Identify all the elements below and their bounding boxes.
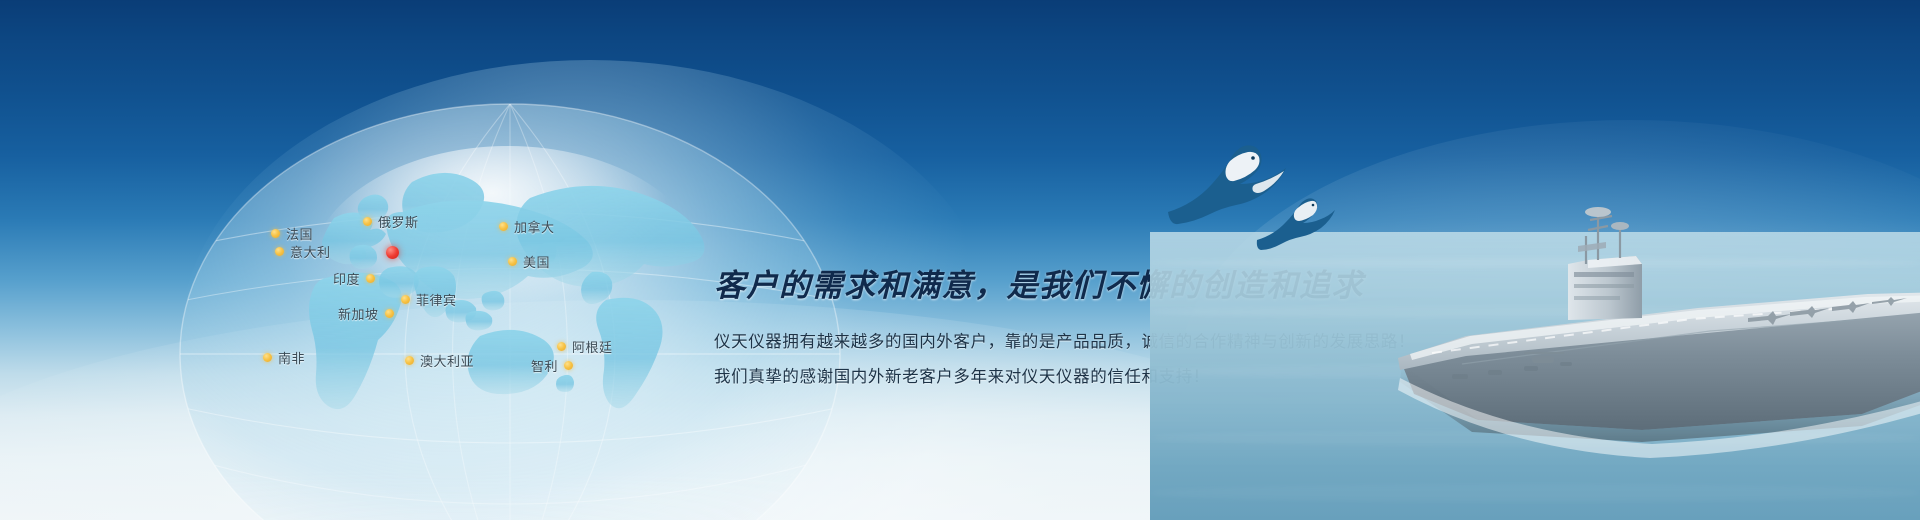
map-marker-label: 俄罗斯	[378, 212, 419, 231]
map-marker-新加坡: 新加坡	[338, 304, 394, 323]
map-marker-label: 加拿大	[514, 217, 555, 236]
map-pin-icon	[385, 309, 394, 318]
seagull-small-icon	[1252, 194, 1338, 252]
map-marker-label: 印度	[333, 269, 360, 288]
map-marker-label: 菲律宾	[416, 290, 457, 309]
map-marker-label: 新加坡	[338, 304, 379, 323]
map-marker-印度: 印度	[333, 269, 375, 288]
map-marker-智利: 智利	[531, 356, 573, 375]
map-marker-label: 智利	[531, 356, 558, 375]
map-pin-icon	[499, 222, 508, 231]
map-marker-label: 意大利	[290, 242, 331, 261]
map-marker-俄罗斯: 俄罗斯	[363, 212, 419, 231]
map-pin-icon	[564, 361, 573, 370]
map-marker-法国: 法国	[271, 224, 313, 243]
map-marker-label: 澳大利亚	[420, 351, 474, 370]
map-marker-意大利: 意大利	[275, 242, 331, 261]
map-marker-加拿大: 加拿大	[499, 217, 555, 236]
map-pin-icon	[271, 229, 280, 238]
map-marker-南非: 南非	[263, 348, 305, 367]
aircraft-carrier	[1392, 168, 1920, 488]
map-marker-label: 阿根廷	[572, 337, 613, 356]
marketing-banner: 法国意大利俄罗斯加拿大美国印度菲律宾新加坡南非澳大利亚智利阿根廷 客户的需求和满…	[0, 0, 1920, 520]
carrier-island-window-band	[1574, 296, 1620, 300]
map-marker-label: 南非	[278, 348, 305, 367]
map-pin-icon	[275, 247, 284, 256]
map-marker-澳大利亚: 澳大利亚	[405, 351, 474, 370]
map-marker-highlight	[386, 246, 405, 259]
map-pin-highlight-icon	[386, 246, 399, 259]
carrier-radar-panel	[1578, 242, 1606, 252]
map-pin-icon	[401, 295, 410, 304]
carrier-radar-dish	[1611, 222, 1629, 230]
map-marker-label: 法国	[286, 224, 313, 243]
map-marker-label: 美国	[523, 252, 550, 271]
carrier-island-window-band	[1574, 272, 1634, 277]
map-pin-icon	[263, 353, 272, 362]
map-marker-菲律宾: 菲律宾	[401, 290, 457, 309]
carrier-radar-dome	[1585, 207, 1611, 217]
map-pin-icon	[363, 217, 372, 226]
map-marker-阿根廷: 阿根廷	[557, 337, 613, 356]
map-pin-icon	[366, 274, 375, 283]
map-pin-icon	[405, 356, 414, 365]
map-marker-美国: 美国	[508, 252, 550, 271]
carrier-island-window-band	[1574, 284, 1634, 288]
map-pin-icon	[557, 342, 566, 351]
map-pin-icon	[508, 257, 517, 266]
